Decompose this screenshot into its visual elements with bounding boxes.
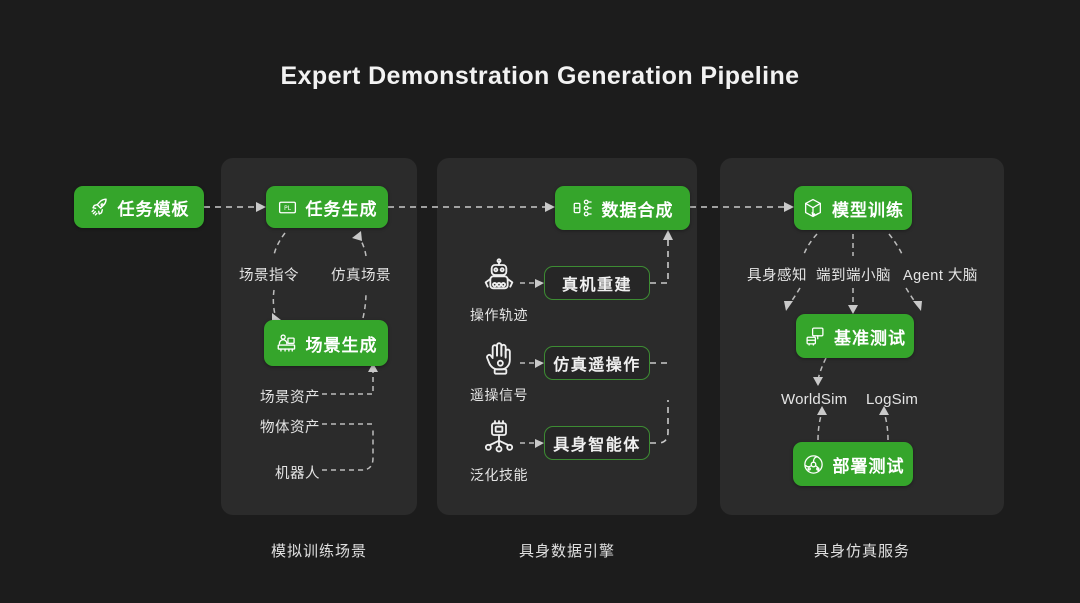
cube-training-icon — [802, 197, 824, 219]
node-label: 模型训练 — [832, 196, 904, 221]
node-label: 任务模板 — [118, 195, 190, 220]
node-embodied-agent[interactable]: 具身智能体 — [544, 426, 650, 460]
node-task-generation[interactable]: PL 任务生成 — [266, 186, 388, 228]
label-scene-asset: 场景资产 — [260, 386, 320, 407]
scene-worker-icon — [275, 332, 298, 355]
source-label: 操作轨迹 — [468, 305, 530, 325]
source-label: 遥操信号 — [468, 385, 530, 405]
label-robot: 机器人 — [275, 462, 320, 483]
radial-icon — [802, 453, 825, 476]
node-benchmark-test[interactable]: 基准测试 — [796, 314, 914, 358]
caption-panel-data-engine: 具身数据引擎 — [437, 540, 697, 561]
rocket-icon — [89, 197, 110, 218]
label-embodied-perception: 具身感知 — [747, 264, 807, 285]
label-object-asset: 物体资产 — [260, 416, 320, 437]
caption-panel-simulation-training: 模拟训练场景 — [221, 540, 417, 561]
node-label: 基准测试 — [834, 324, 906, 349]
source-operation-trajectory: 操作轨迹 — [468, 258, 530, 325]
ai-chip-icon — [479, 418, 519, 458]
node-label: 任务生成 — [306, 195, 378, 220]
source-label: 泛化技能 — [468, 465, 530, 485]
monitor-icon — [804, 325, 826, 347]
label-scene-instruction: 场景指令 — [239, 264, 299, 285]
node-simulated-teleoperation[interactable]: 仿真遥操作 — [544, 346, 650, 380]
label-agent-brain: Agent 大脑 — [903, 264, 978, 285]
label-end-to-end-cerebellum: 端到端小脑 — [816, 264, 891, 285]
page-title: Expert Demonstration Generation Pipeline — [0, 62, 1080, 91]
label-worldsim: WorldSim — [781, 391, 847, 408]
node-deployment-test[interactable]: 部署测试 — [793, 442, 913, 486]
diagram-canvas: Expert Demonstration Generation Pipeline — [0, 0, 1080, 603]
data-merge-icon — [572, 197, 594, 219]
source-generalization-skill: 泛化技能 — [468, 418, 530, 485]
plan-board-icon: PL — [277, 197, 298, 218]
caption-panel-simulation-service: 具身仿真服务 — [720, 540, 1004, 561]
node-data-synthesis[interactable]: 数据合成 — [555, 186, 690, 230]
node-model-training[interactable]: 模型训练 — [794, 186, 912, 230]
node-label: 仿真遥操作 — [553, 351, 641, 375]
node-label: 场景生成 — [306, 331, 378, 356]
node-label: 数据合成 — [602, 196, 674, 221]
node-real-machine-reconstruction[interactable]: 真机重建 — [544, 266, 650, 300]
glove-icon — [479, 338, 519, 378]
svg-text:PL: PL — [283, 204, 291, 211]
node-label: 具身智能体 — [553, 431, 641, 455]
label-simulation-scene: 仿真场景 — [331, 264, 391, 285]
node-scene-generation[interactable]: 场景生成 — [264, 320, 388, 366]
node-task-template[interactable]: 任务模板 — [74, 186, 204, 228]
node-label: 部署测试 — [833, 452, 905, 477]
robot-icon — [479, 258, 519, 298]
node-label: 真机重建 — [562, 271, 632, 295]
source-teleoperation-signal: 遥操信号 — [468, 338, 530, 405]
label-logsim: LogSim — [866, 391, 918, 408]
